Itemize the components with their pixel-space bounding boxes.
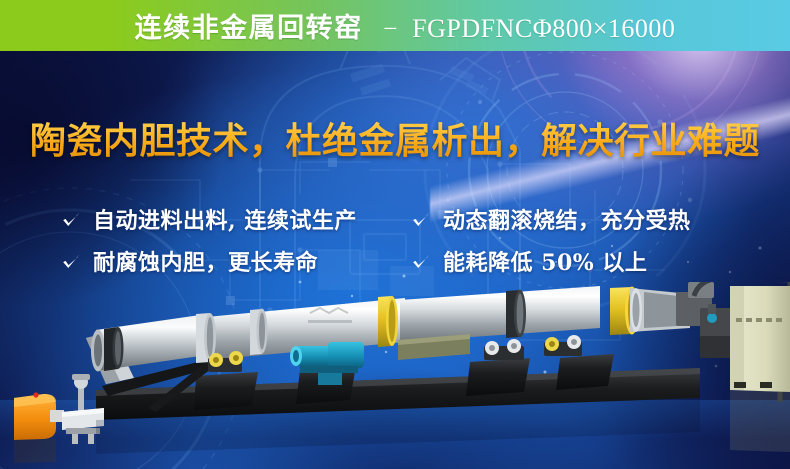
check-icon bbox=[410, 251, 432, 273]
check-icon bbox=[60, 209, 82, 231]
header-title: 连续非金属回转窑 bbox=[135, 6, 363, 45]
header-bar: 连续非金属回转窑 – FGPDFNC Φ800×16000 bbox=[0, 0, 790, 51]
control-cabinet bbox=[730, 286, 790, 392]
header-model-size: Φ800×16000 bbox=[533, 14, 676, 44]
header-model-code: FGPDFNC bbox=[412, 14, 533, 44]
feature-label-3: 耐腐蚀内胆，更长寿命 bbox=[93, 245, 318, 277]
feature-label-2: 动态翻滚烧结，充分受热 bbox=[443, 203, 691, 235]
roller-assembly-3 bbox=[544, 335, 582, 356]
feature-label-1: 自动进料出料, 连续试生产 bbox=[93, 203, 357, 235]
support-ring-1 bbox=[378, 296, 398, 347]
feature-item-2: 动态翻滚烧结，充分受热 bbox=[410, 203, 760, 235]
page-headline: 陶瓷内胆技术，杜绝金属析出，解决行业难题 bbox=[0, 112, 790, 164]
check-icon bbox=[60, 251, 82, 273]
rotary-kiln-illustration bbox=[0, 282, 790, 469]
header-separator: – bbox=[363, 14, 413, 40]
kiln-drum-right bbox=[400, 286, 600, 342]
burner bbox=[14, 392, 64, 440]
roller-assembly-2 bbox=[484, 339, 524, 360]
feature-label-4: 能耗降低 50% 以上 bbox=[443, 245, 647, 277]
promo-banner: 连续非金属回转窑 – FGPDFNC Φ800×16000 陶瓷内胆技术，杜绝金… bbox=[0, 0, 790, 469]
feature-item-3: 耐腐蚀内胆，更长寿命 bbox=[60, 245, 410, 277]
check-icon bbox=[410, 209, 432, 231]
feature-item-1: 自动进料出料, 连续试生产 bbox=[60, 203, 410, 235]
feature-list: 自动进料出料, 连续试生产 动态翻滚烧结，充分受热 耐腐蚀内胆，更长寿命 能耗降… bbox=[60, 203, 760, 277]
feature-item-4: 能耗降低 50% 以上 bbox=[410, 245, 760, 277]
